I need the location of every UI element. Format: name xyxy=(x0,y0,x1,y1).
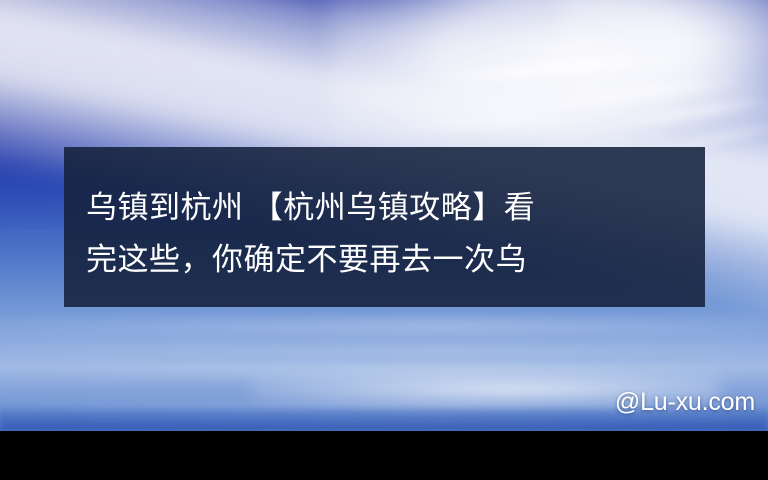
site-watermark: @Lu-xu.com xyxy=(615,388,755,416)
banner-image: 乌镇到杭州 【杭州乌镇攻略】看 完这些，你确定不要再去一次乌 @Lu-xu.co… xyxy=(0,0,768,480)
horizon-haze-band-1 xyxy=(0,318,768,334)
bottom-black-bar xyxy=(0,431,768,480)
title-line-1: 乌镇到杭州 【杭州乌镇攻略】看 xyxy=(86,182,683,234)
title-overlay-box: 乌镇到杭州 【杭州乌镇攻略】看 完这些，你确定不要再去一次乌 xyxy=(64,147,705,307)
horizon-haze-band-2 xyxy=(0,344,768,356)
title-line-2: 完这些，你确定不要再去一次乌 xyxy=(86,234,683,286)
